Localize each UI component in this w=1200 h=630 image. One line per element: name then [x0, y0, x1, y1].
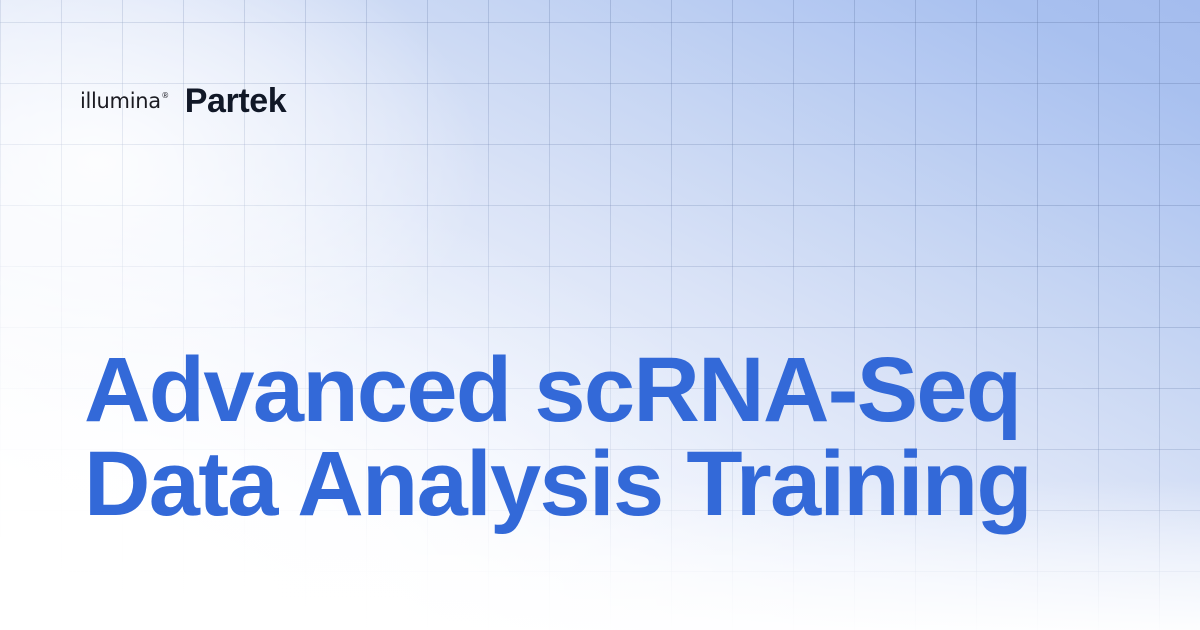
registered-trademark-icon: ®: [161, 90, 169, 99]
promo-banner: illumina® Partek Advanced scRNA-Seq Data…: [0, 0, 1200, 630]
banner-content: illumina® Partek Advanced scRNA-Seq Data…: [0, 0, 1200, 630]
illumina-wordmark-text: illumina: [80, 88, 161, 112]
page-title: Advanced scRNA-Seq Data Analysis Trainin…: [84, 344, 1154, 532]
page-title-line-1: Advanced scRNA-Seq: [84, 344, 1154, 438]
partek-wordmark: Partek: [185, 84, 287, 118]
illumina-wordmark-icon: illumina®: [80, 90, 169, 111]
brand-logo-lockup: illumina® Partek: [80, 84, 286, 118]
page-title-line-2: Data Analysis Training: [84, 438, 1154, 532]
